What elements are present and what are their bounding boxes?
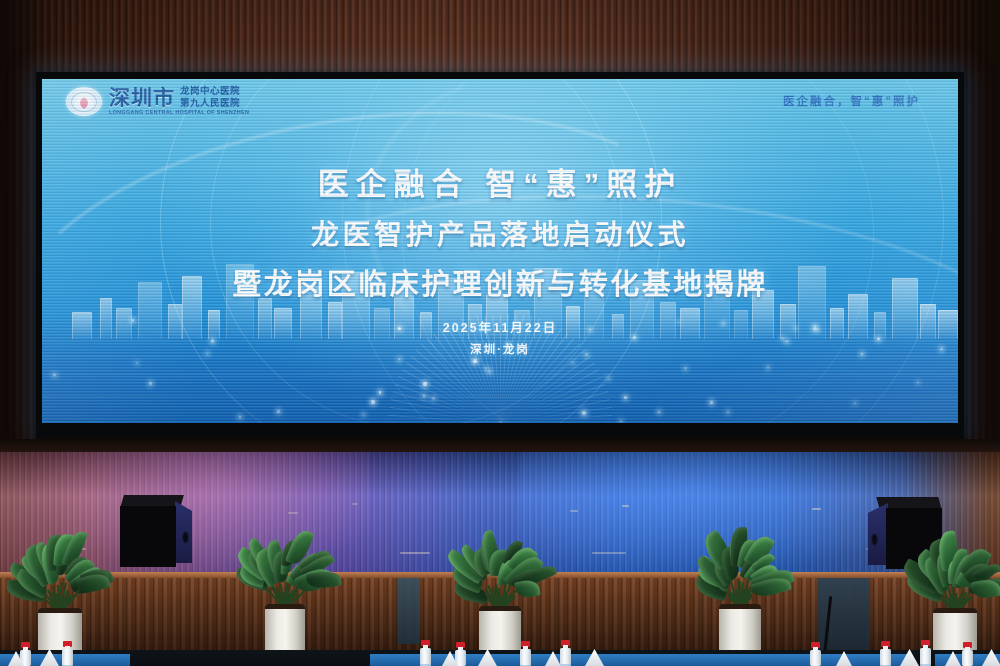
water-bottle <box>560 640 571 666</box>
hospital-logo: 深圳市 龙岗中心医院 第九人民医院 LONGGANG CENTRAL HOSPI… <box>66 87 249 117</box>
event-meta: 2025年11月22日 深圳·龙岗 <box>42 317 958 357</box>
floor-light-reflection <box>592 552 626 554</box>
bottle-body <box>520 649 531 666</box>
logo-hospital-line1: 龙岗中心医院 <box>180 87 240 98</box>
glow-particle <box>371 400 375 404</box>
logo-hospital-line2: 第九人民医院 <box>180 99 240 110</box>
potted-plant <box>426 514 574 666</box>
floor-light-reflection <box>570 510 578 512</box>
bottle-body <box>880 649 891 666</box>
water-bottle <box>520 641 531 666</box>
bottle-body <box>560 648 571 666</box>
bottle-body <box>62 649 73 666</box>
bottle-body <box>920 648 931 666</box>
speaker-driver-icon <box>182 531 189 544</box>
grid-horizontal-line <box>42 374 958 375</box>
water-bottle <box>920 640 931 666</box>
glow-particle <box>710 401 713 404</box>
floor-light-reflection <box>352 503 358 505</box>
floor-light-reflection <box>622 505 629 507</box>
glow-particle <box>582 411 586 415</box>
glow-particle <box>149 382 152 385</box>
plant-foliage <box>880 522 1000 614</box>
grid-horizontal-line <box>42 396 958 397</box>
glow-particle <box>624 396 627 399</box>
water-bottle <box>810 642 821 666</box>
glow-particle <box>485 367 488 370</box>
glow-particle <box>379 391 382 394</box>
conference-hall-photo: 深圳市 龙岗中心医院 第九人民医院 LONGGANG CENTRAL HOSPI… <box>0 0 1000 666</box>
glow-particle <box>854 402 856 404</box>
logo-city-name: 深圳市 <box>109 88 175 109</box>
plant-foliage <box>665 516 815 610</box>
potted-plant <box>215 516 355 666</box>
water-bottle <box>420 640 431 666</box>
plant-leaf <box>971 578 1000 600</box>
glow-particle <box>423 382 426 385</box>
logo-english-name: LONGGANG CENTRAL HOSPITAL OF SHENZHEN <box>109 111 249 116</box>
plant-foliage <box>215 522 355 610</box>
hospital-seal-icon <box>66 87 102 116</box>
glow-particle <box>767 366 769 368</box>
event-title-block: 医企融合 智“惠”照护 龙医智护产品落地启动仪式 暨龙岗区临床护理创新与转化基地… <box>42 159 958 357</box>
corner-slogan: 医企融合，智“惠”照护 <box>783 93 920 109</box>
plant-foliage <box>426 520 574 612</box>
glow-particle <box>277 410 280 413</box>
water-bottle <box>62 641 73 666</box>
glow-particle <box>473 359 477 363</box>
bottle-body <box>962 650 973 666</box>
floor-light-reflection <box>288 512 298 514</box>
glow-particle <box>363 414 364 415</box>
glow-particle <box>917 382 919 384</box>
plant-foliage <box>0 522 135 614</box>
water-bottle <box>455 642 466 666</box>
glow-particle <box>399 359 400 360</box>
glow-particle <box>53 374 55 376</box>
event-date: 2025年11月22日 <box>42 317 958 336</box>
table-cloth <box>600 654 910 666</box>
title-line-1: 医企融合 智“惠”照护 <box>42 159 958 204</box>
stage-top-shadow <box>0 439 1000 453</box>
led-screen: 深圳市 龙岗中心医院 第九人民医院 LONGGANG CENTRAL HOSPI… <box>42 79 958 423</box>
stage-apron-recess <box>398 578 420 644</box>
event-location: 深圳·龙岗 <box>42 341 958 357</box>
wall-right-shadow <box>966 0 1000 452</box>
glow-particle <box>684 367 687 370</box>
grid-radial-line <box>500 423 612 424</box>
speaker-driver-icon <box>871 533 878 546</box>
glow-particle <box>658 411 661 414</box>
wall-left-shadow <box>0 0 40 452</box>
hospital-logo-text: 深圳市 龙岗中心医院 第九人民医院 LONGGANG CENTRAL HOSPI… <box>109 87 249 117</box>
glow-particle <box>136 362 138 364</box>
bottle-body <box>810 650 821 666</box>
potted-plant <box>665 510 815 666</box>
glow-particle <box>727 411 729 413</box>
grid-radial-line <box>388 423 500 424</box>
potted-plant <box>880 516 1000 666</box>
title-line-2: 龙医智护产品落地启动仪式 <box>42 213 958 253</box>
glow-particle <box>620 420 622 422</box>
title-line-3: 暨龙岗区临床护理创新与转化基地揭牌 <box>42 261 958 303</box>
glow-particle <box>572 362 574 364</box>
water-bottle <box>962 642 973 666</box>
glow-particle <box>608 378 609 379</box>
water-bottle <box>880 641 891 666</box>
glow-particle <box>423 395 425 397</box>
glow-particle <box>239 416 241 418</box>
bottle-body <box>420 648 431 666</box>
